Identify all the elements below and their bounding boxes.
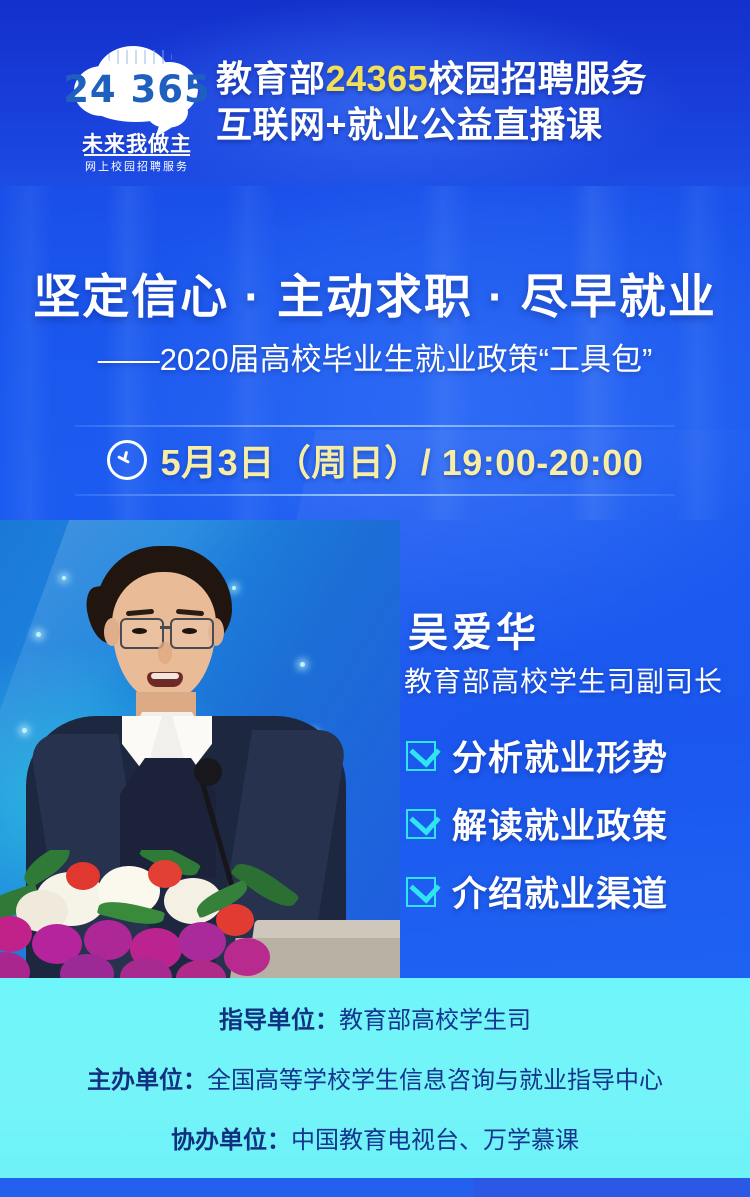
- footer-value: 教育部高校学生司: [339, 1007, 531, 1034]
- footer-label: 指导单位：: [219, 1007, 339, 1034]
- footer-row: 协办单位：中国教育电视台、万学慕课: [0, 1120, 750, 1155]
- speaker-teeth: [151, 673, 179, 679]
- date-row: 5月3日（周日）/ 19:00-20:00: [0, 434, 750, 486]
- speaker-photo: [0, 520, 400, 980]
- main-slogan: 坚定信心 · 主动求职 · 尽早就业: [0, 258, 750, 327]
- date-time-text: 5月3日（周日）/ 19:00-20:00: [161, 434, 644, 486]
- promo-poster: 24 365 未来我做主 网上校园招聘服务 教育部24365校园招聘服务 互联网…: [0, 0, 750, 1197]
- checkbox-icon: [406, 809, 436, 839]
- checkbox-icon: [406, 741, 436, 771]
- microphone-head: [194, 758, 222, 786]
- topic-label: 解读就业政策: [452, 798, 668, 849]
- speaker-title: 教育部高校学生司副司长: [404, 660, 723, 700]
- bottom-bar: [0, 1178, 750, 1197]
- topic-label: 介绍就业渠道: [452, 866, 668, 917]
- main-subslogan: ——2020届高校毕业生就业政策“工具包”: [0, 334, 750, 379]
- speaker-nose: [158, 642, 172, 664]
- header-title-highlight: 24365: [326, 58, 429, 99]
- brand-logo: 24 365 未来我做主 网上校园招聘服务: [62, 44, 212, 180]
- footer-row: 主办单位：全国高等学校学生信息咨询与就业指导中心: [0, 1060, 750, 1095]
- date-divider-top: [75, 425, 675, 427]
- header-title-line-1: 教育部24365校园招聘服务: [216, 56, 647, 102]
- cloud-dots-decoration: [108, 50, 172, 64]
- speaker-ear-left: [104, 618, 120, 646]
- header-title-suffix: 校园招聘服务: [428, 58, 647, 99]
- speaker-eye-right: [182, 628, 197, 634]
- topic-label: 分析就业形势: [452, 730, 668, 781]
- topic-list: 分析就业形势 解读就业政策 介绍就业渠道: [406, 730, 746, 934]
- poster-footer: 指导单位：教育部高校学生司 主办单位：全国高等学校学生信息咨询与就业指导中心 协…: [0, 978, 750, 1178]
- logo-divider: [84, 154, 190, 156]
- clock-icon: [107, 440, 147, 480]
- date-divider-bottom: [75, 494, 675, 496]
- speaker-name: 吴爱华: [408, 600, 540, 658]
- logo-number: 24 365: [62, 68, 212, 111]
- poster-header: 24 365 未来我做主 网上校园招聘服务 教育部24365校园招聘服务 互联网…: [0, 0, 750, 186]
- topic-item: 解读就业政策: [406, 798, 746, 849]
- footer-row: 指导单位：教育部高校学生司: [0, 1000, 750, 1035]
- glasses-bridge: [160, 626, 170, 629]
- flower-arrangement: [0, 850, 340, 980]
- footer-label: 协办单位：: [171, 1127, 291, 1154]
- footer-value: 中国教育电视台、万学慕课: [291, 1127, 579, 1154]
- speaker-eye-left: [132, 628, 147, 634]
- footer-value: 全国高等学校学生信息咨询与就业指导中心: [207, 1067, 663, 1094]
- footer-label: 主办单位：: [87, 1067, 207, 1094]
- topic-item: 介绍就业渠道: [406, 866, 746, 917]
- topic-item: 分析就业形势: [406, 730, 746, 781]
- checkbox-icon: [406, 877, 436, 907]
- header-title-prefix: 教育部: [216, 58, 326, 99]
- header-title-block: 教育部24365校园招聘服务 互联网+就业公益直播课: [216, 56, 647, 148]
- logo-subtitle: 网上校园招聘服务: [62, 158, 212, 174]
- header-title-line-2: 互联网+就业公益直播课: [216, 102, 647, 148]
